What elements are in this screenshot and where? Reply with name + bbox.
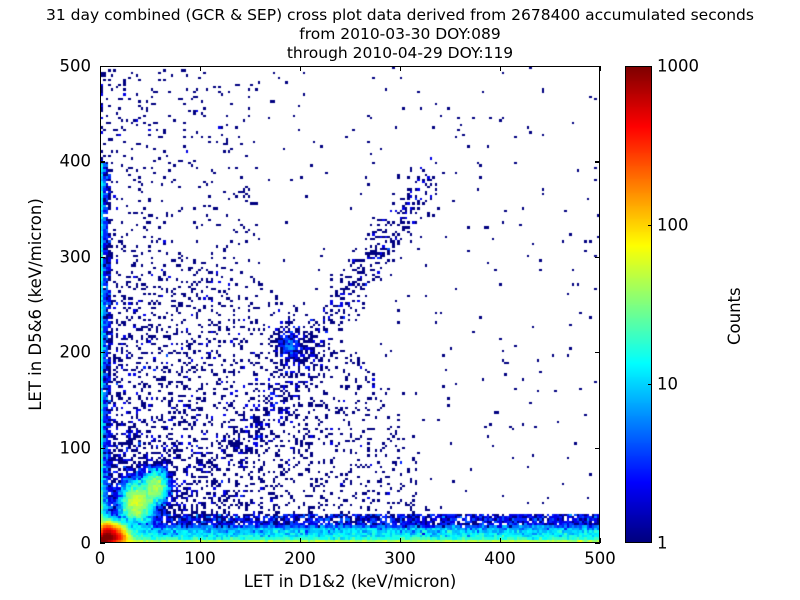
- colorbar-tick-label: 1000: [657, 57, 699, 76]
- x-tick-mark: [600, 538, 601, 543]
- colorbar-tick-label: 10: [657, 375, 678, 394]
- colorbar-tick-mark: [648, 225, 652, 226]
- y-tick-label: 400: [0, 152, 91, 171]
- y-tick-mark: [100, 352, 105, 353]
- y-tick-mark: [100, 257, 105, 258]
- x-tick-label: 300: [384, 549, 416, 568]
- x-tick-mark-top: [500, 66, 501, 71]
- y-tick-label: 300: [0, 247, 91, 266]
- y-tick-mark-right: [595, 448, 600, 449]
- y-tick-mark-right: [595, 161, 600, 162]
- y-tick-label: 500: [0, 57, 91, 76]
- x-tick-label: 400: [484, 549, 516, 568]
- y-tick-mark: [100, 543, 105, 544]
- y-tick-mark: [100, 161, 105, 162]
- colorbar-tick-mark: [648, 384, 652, 385]
- y-tick-label: 100: [0, 438, 91, 457]
- colorbar-tick-label: 100: [657, 216, 689, 235]
- y-tick-mark-right: [595, 66, 600, 67]
- x-tick-label: 0: [95, 549, 106, 568]
- x-tick-mark: [400, 538, 401, 543]
- scatter-plot-axes: [100, 66, 600, 543]
- y-axis-label: LET in D5&6 (keV/micron): [26, 66, 45, 543]
- x-tick-mark-top: [200, 66, 201, 71]
- y-tick-label: 200: [0, 343, 91, 362]
- x-tick-mark: [300, 538, 301, 543]
- y-tick-mark: [100, 66, 105, 67]
- y-tick-mark-right: [595, 352, 600, 353]
- colorbar-gradient: [626, 67, 651, 542]
- x-tick-mark: [500, 538, 501, 543]
- x-axis-label: LET in D1&2 (keV/micron): [100, 572, 600, 591]
- x-tick-mark: [200, 538, 201, 543]
- title-line-1: 31 day combined (GCR & SEP) cross plot d…: [0, 6, 800, 25]
- colorbar-tick-label: 1: [657, 534, 668, 553]
- y-tick-mark: [100, 448, 105, 449]
- y-tick-label: 0: [0, 534, 91, 553]
- x-tick-mark-top: [300, 66, 301, 71]
- figure-canvas: 31 day combined (GCR & SEP) cross plot d…: [0, 0, 800, 600]
- chart-title: 31 day combined (GCR & SEP) cross plot d…: [0, 6, 800, 63]
- x-tick-mark-top: [600, 66, 601, 71]
- colorbar: [625, 66, 652, 543]
- heatmap-data-layer: [101, 67, 599, 542]
- colorbar-label: Counts: [725, 287, 744, 345]
- y-tick-mark-right: [595, 543, 600, 544]
- x-tick-label: 200: [284, 549, 316, 568]
- title-line-2: from 2010-03-30 DOY:089: [0, 25, 800, 44]
- y-tick-mark-right: [595, 257, 600, 258]
- x-tick-label: 500: [584, 549, 616, 568]
- x-tick-mark-top: [400, 66, 401, 71]
- x-tick-label: 100: [184, 549, 216, 568]
